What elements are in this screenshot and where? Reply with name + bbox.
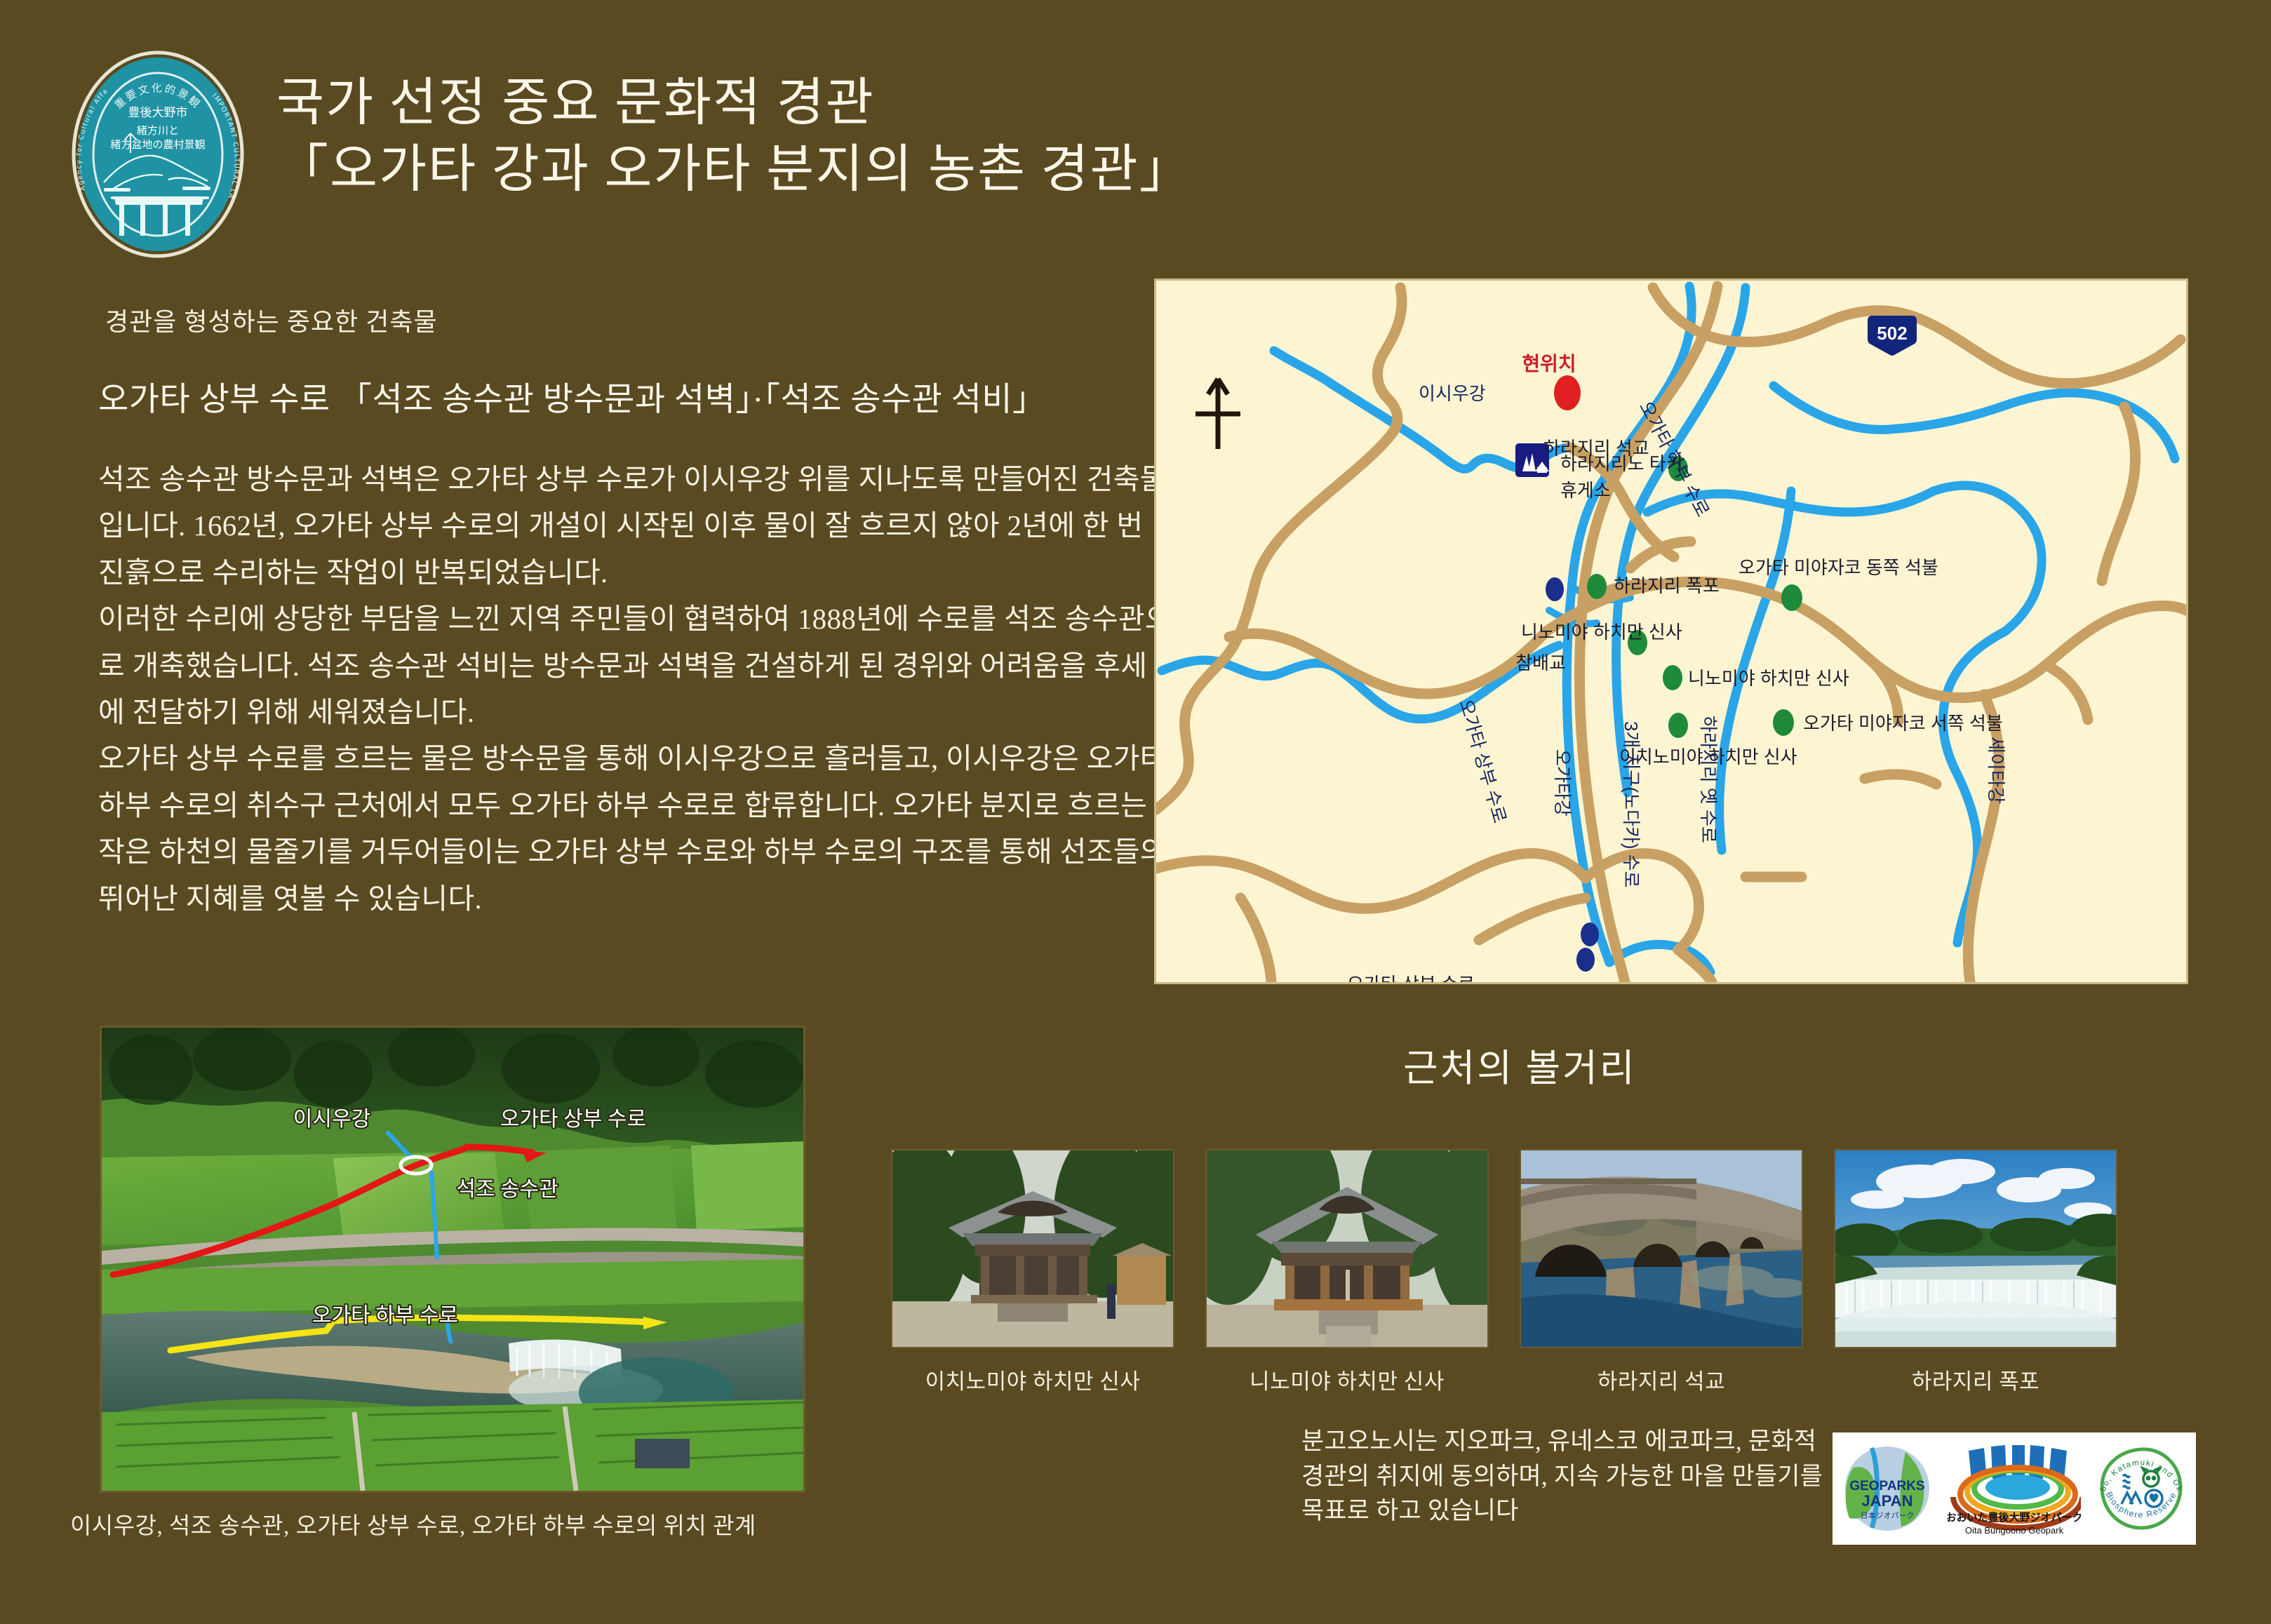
map-label-east-stone-buddha: 오가타 미야자코 동쪽 석불 bbox=[1739, 557, 1938, 578]
article-kicker: 경관을 형성하는 중요한 건축물 bbox=[105, 302, 438, 338]
biosphere-reserve-logo: Sobo, Katamuki and Okue Biosphere Reserv… bbox=[2092, 1440, 2190, 1538]
thumbnail-caption: 니노미야 하치만 신사 bbox=[1207, 1364, 1487, 1395]
oita-bungoono-geopark-logo: おおいた豊後大野ジオパーク Oita Bungoono Geopark bbox=[1948, 1440, 2081, 1538]
aerial-photo: 이시우강 오가타 상부 수로 석조 송수관 오가타 하부 수로 bbox=[102, 1028, 803, 1491]
article-paragraph-2: 이러한 수리에 상당한 부담을 느낀 지역 주민들이 협력하여 1888년에 수… bbox=[98, 596, 1172, 735]
svg-text:日本ジオパーク: 日本ジオパーク bbox=[1861, 1510, 1915, 1520]
aerial-label-stone-aqueduct: 석조 송수관 bbox=[456, 1178, 558, 1201]
thumbnail-waterfall[interactable] bbox=[1835, 1150, 2116, 1347]
svg-text:Biosphere Reserve: Biosphere Reserve bbox=[2104, 1490, 2178, 1519]
svg-text:GEOPARKS: GEOPARKS bbox=[1849, 1479, 1924, 1494]
thumbnail-stone-bridge[interactable] bbox=[1521, 1150, 1802, 1347]
page-title-line-1: 국가 선정 중요 문화적 경관 bbox=[276, 70, 1193, 137]
map-label-ogata-river: 오가타강 bbox=[1552, 749, 1573, 817]
header: 重要文化的景観 Agency for Cultural Affairs IMPO… bbox=[70, 49, 1193, 260]
svg-text:502: 502 bbox=[1877, 323, 1907, 344]
map-label-upper-canal-2: 오가타 상부 수로 bbox=[1347, 974, 1475, 982]
article-lead: 오가타 상부 수로 「석조 송수관 방수문과 석벽」·「석조 송수관 석비」 bbox=[98, 372, 1046, 420]
seal-svg: 重要文化的景観 Agency for Cultural Affairs IMPO… bbox=[70, 49, 246, 260]
map-label-seita-river: 세이타강 bbox=[1985, 737, 2007, 804]
map-label-sanpai-bridge: 참배교 bbox=[1515, 652, 1566, 673]
thumbnail-shrine-b[interactable] bbox=[1207, 1150, 1487, 1347]
map-label-harajiri-falls: 하라지리 폭포 bbox=[1614, 575, 1720, 596]
svg-text:JAPAN: JAPAN bbox=[1862, 1492, 1913, 1510]
thumbnail-caption: 이치노미야 하치만 신사 bbox=[892, 1364, 1173, 1395]
map-label-current-position: 현위치 bbox=[1522, 353, 1576, 375]
aerial-label-upper-canal: 오가타 상부 수로 bbox=[500, 1108, 646, 1131]
svg-text:おおいた豊後大野ジオパーク: おおいた豊後大野ジオパーク bbox=[1948, 1511, 2081, 1524]
svg-text:Sobo, Katamuki and Okue: Sobo, Katamuki and Okue bbox=[2092, 1440, 2183, 1494]
map-label-rest-area-2: 휴게소 bbox=[1560, 480, 1611, 501]
seal-name-1: 緒方川と bbox=[137, 124, 179, 137]
aerial-photo-caption: 이시우강, 석조 송수관, 오가타 상부 수로, 오가타 하부 수로의 위치 관… bbox=[70, 1507, 756, 1541]
map-label-ishiu-river: 이시우강 bbox=[1419, 383, 1486, 404]
article-paragraph-1: 석조 송수관 방수문과 석벽은 오가타 상부 수로가 이시우강 위를 지나도록 … bbox=[98, 456, 1172, 596]
poi-ichinomiya-shrine bbox=[1668, 713, 1688, 738]
list-item[interactable]: 이치노미야 하치만 신사 bbox=[892, 1150, 1173, 1395]
map-svg: 502 현위치 이시우강 하라지리노 타키 bbox=[1156, 281, 2186, 982]
list-item[interactable]: 하라지리 폭포 bbox=[1835, 1150, 2116, 1395]
article-paragraph-3: 오가타 상부 수로를 흐르는 물은 방수문을 통해 이시우강으로 흘러들고, 이… bbox=[98, 735, 1172, 922]
thumbnail-shrine-a[interactable] bbox=[892, 1150, 1173, 1347]
seal-city: 豊後大野市 bbox=[128, 106, 188, 120]
map-label-west-stone-buddha: 오가타 미야자코 서쪽 석불 bbox=[1803, 713, 2003, 734]
map-label-harajiri-old-canal: 하라지리 옛 수로 bbox=[1698, 716, 1719, 843]
footer-statement: 분고오노시는 지오파크, 유네스코 에코파크, 문화적 경관의 취지에 동의하며… bbox=[1301, 1424, 1835, 1529]
map-label-ninomiya-shrine-1: 니노미야 하치만 신사 bbox=[1521, 622, 1682, 643]
poi-navy-1 bbox=[1546, 577, 1564, 601]
thumbnail-caption: 하라지리 폭포 bbox=[1835, 1364, 2116, 1395]
aerial-photo-svg: 이시우강 오가타 상부 수로 석조 송수관 오가타 하부 수로 bbox=[102, 1028, 803, 1491]
poi-navy-3 bbox=[1576, 948, 1595, 972]
poi-navy-2 bbox=[1581, 922, 1599, 946]
map-label-harajiri-stone-bridge: 하라지리 석교 bbox=[1543, 438, 1649, 459]
poi-ninomiya-shrine bbox=[1663, 665, 1682, 690]
thumbnail-caption: 하라지리 석교 bbox=[1521, 1364, 1802, 1395]
nearby-section-title: 근처의 볼거리 bbox=[1403, 1037, 1637, 1092]
list-item[interactable]: 니노미야 하치만 신사 bbox=[1207, 1150, 1487, 1395]
map-label-ninomiya-shrine-2: 니노미야 하치만 신사 bbox=[1688, 668, 1849, 689]
partner-logo-bar: GEOPARKS JAPAN 日本ジオパーク おおいた豊後大野ジオパーク Oit… bbox=[1833, 1432, 2196, 1545]
poi-harajiri-falls bbox=[1587, 574, 1607, 599]
geoparks-japan-logo: GEOPARKS JAPAN 日本ジオパーク bbox=[1838, 1440, 1936, 1538]
nearby-thumbnail-list: 이치노미야 하치만 신사 bbox=[892, 1150, 2116, 1395]
aerial-label-lower-canal: 오가타 하부 수로 bbox=[312, 1304, 458, 1327]
page-title-line-2: 「오가타 강과 오가타 분지의 농촌 경관」 bbox=[276, 137, 1193, 203]
title-block: 국가 선정 중요 문화적 경관 「오가타 강과 오가타 분지의 농촌 경관」 bbox=[276, 49, 1193, 203]
seal-bottom-text: 文化庁 bbox=[144, 242, 171, 253]
poi-east-stone-buddha bbox=[1781, 584, 1802, 611]
poi-west-stone-buddha bbox=[1773, 709, 1794, 736]
article-body: 석조 송수관 방수문과 석벽은 오가타 상부 수로가 이시우강 위를 지나도록 … bbox=[98, 456, 1172, 922]
location-map[interactable]: 502 현위치 이시우강 하라지리노 타키 bbox=[1156, 281, 2186, 982]
list-item[interactable]: 하라지리 석교 bbox=[1521, 1150, 1802, 1395]
svg-text:Oita Bungoono Geopark: Oita Bungoono Geopark bbox=[1965, 1525, 2064, 1536]
poi-current-position bbox=[1554, 375, 1581, 410]
cultural-landscape-seal: 重要文化的景観 Agency for Cultural Affairs IMPO… bbox=[70, 49, 246, 260]
aerial-label-ishiu-river: 이시우강 bbox=[293, 1108, 370, 1131]
